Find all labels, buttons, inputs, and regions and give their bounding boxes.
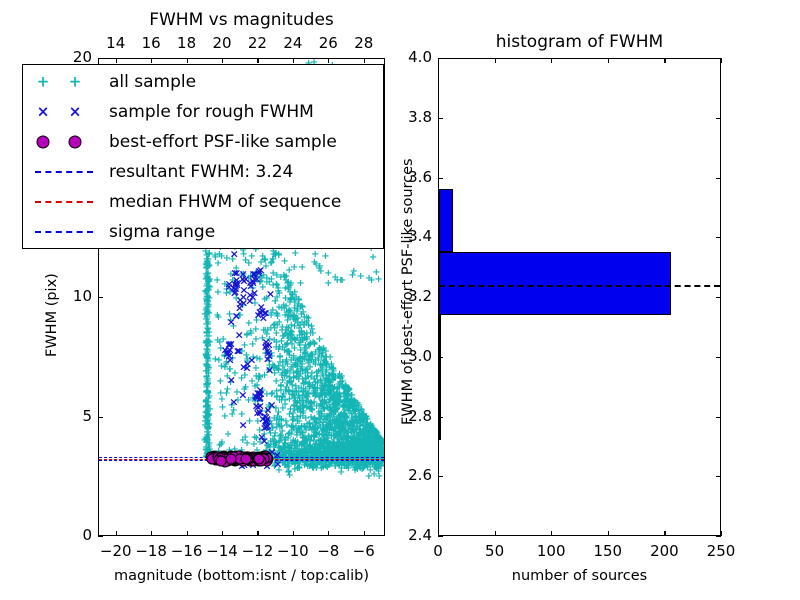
x-tick-label-histogram: 200 xyxy=(640,542,688,560)
legend-marker-cross: × xyxy=(37,105,50,120)
histogram-bar xyxy=(439,378,441,441)
histogram-bars-layer xyxy=(439,59,720,535)
x-tick-label-top: 26 xyxy=(308,34,348,52)
legend-marker-circle xyxy=(69,136,82,149)
psf-like-point xyxy=(225,454,236,465)
y-tick-label-histogram: 2.4 xyxy=(392,526,432,544)
legend-line-dashed xyxy=(35,201,93,203)
legend-line-dashdot xyxy=(35,231,93,233)
x-tick-label-top: 14 xyxy=(96,34,136,52)
legend-label: best-effort PSF-like sample xyxy=(109,132,337,152)
histogram-yaxis-label: FWHM of best-effort PSF-like sources xyxy=(400,158,416,425)
scatter-plot-title: FWHM vs magnitudes xyxy=(98,10,385,30)
psf-like-point xyxy=(241,454,252,465)
x-tick-label-histogram: 150 xyxy=(584,542,632,560)
scatter-legend: ++all sample××sample for rough FWHMbest-… xyxy=(22,64,384,249)
y-tick-label-histogram: 2.6 xyxy=(392,466,432,484)
histogram-xaxis-label: number of sources xyxy=(438,568,721,584)
x-tick-label-top: 18 xyxy=(167,34,207,52)
scatter-yaxis-label: FWHM (pix) xyxy=(44,273,60,357)
y-tick-label-histogram: 4.0 xyxy=(392,48,432,66)
histogram-bar xyxy=(439,252,671,315)
y-tick-left xyxy=(98,536,103,537)
figure-canvas: FWHM vs magnitudes−20−18−16−14−12−10−8−6… xyxy=(0,0,800,600)
x-tick-label-histogram: 250 xyxy=(697,542,745,560)
legend-row: best-effort PSF-like sample xyxy=(23,127,383,157)
legend-row: sigma range xyxy=(23,217,383,247)
x-tick-histogram xyxy=(721,531,722,536)
x-tick-label-histogram: 50 xyxy=(471,542,519,560)
x-tick-label-histogram: 100 xyxy=(527,542,575,560)
x-tick-label-top: 16 xyxy=(131,34,171,52)
y-tick-label-left: 5 xyxy=(50,407,92,425)
legend-label: median FHWM of sequence xyxy=(109,192,341,212)
x-tick-label-histogram: 0 xyxy=(414,542,462,560)
histogram-bar xyxy=(439,189,453,252)
y-tick-label-left: 0 xyxy=(50,526,92,544)
legend-marker-cross: × xyxy=(69,105,82,120)
legend-row: ++all sample xyxy=(23,67,383,97)
legend-label: resultant FWHM: 3.24 xyxy=(109,162,293,182)
legend-row: median FHWM of sequence xyxy=(23,187,383,217)
legend-line-dashed xyxy=(35,171,93,173)
psf-like-point xyxy=(254,454,265,465)
legend-row: resultant FWHM: 3.24 xyxy=(23,157,383,187)
y-tick-histogram-right xyxy=(716,536,721,537)
legend-marker-circle xyxy=(37,136,50,149)
y-tick-label-histogram: 3.8 xyxy=(392,108,432,126)
legend-marker-plus: + xyxy=(69,75,82,90)
legend-row: ××sample for rough FWHM xyxy=(23,97,383,127)
x-tick-label-top: 28 xyxy=(344,34,384,52)
x-tick-label-bottom: −6 xyxy=(342,542,386,560)
scatter-xaxis-label: magnitude (bottom:isnt / top:calib) xyxy=(98,568,385,584)
histogram-plot-title: histogram of FWHM xyxy=(438,32,721,52)
legend-label: sample for rough FWHM xyxy=(109,102,314,122)
x-tick-label-top: 24 xyxy=(273,34,313,52)
legend-marker-plus: + xyxy=(37,75,50,90)
legend-label: sigma range xyxy=(109,222,215,242)
legend-label: all sample xyxy=(109,72,196,92)
x-tick-label-top: 22 xyxy=(237,34,277,52)
histogram-bar xyxy=(439,315,441,378)
x-tick-label-top: 20 xyxy=(202,34,242,52)
histogram-median-line xyxy=(439,285,720,287)
y-tick-histogram xyxy=(438,536,443,537)
x-tick-histogram-top xyxy=(721,58,722,63)
